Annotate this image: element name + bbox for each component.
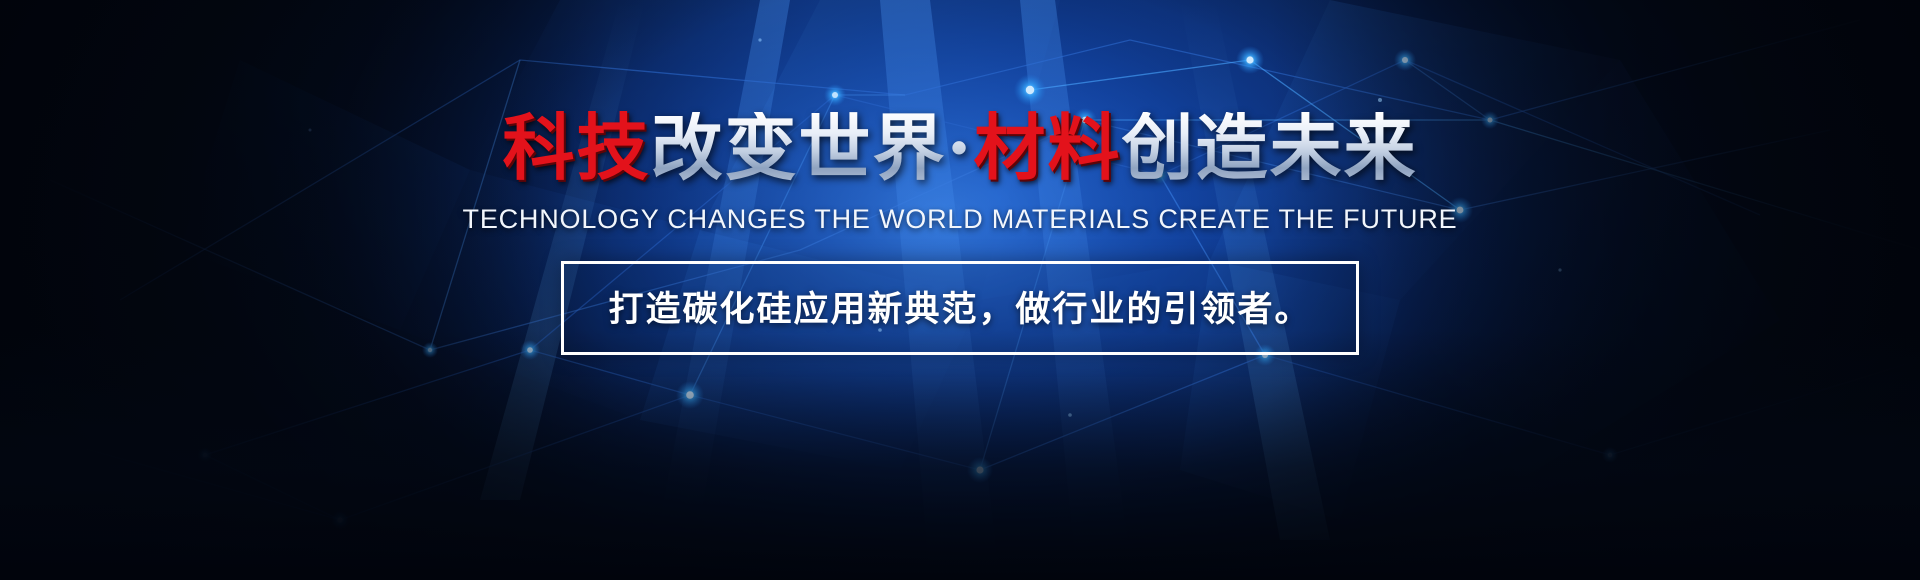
headline-segment-1: 科技 bbox=[502, 112, 650, 184]
headline-segment-2: 改变世界· bbox=[650, 112, 973, 184]
headline-segment-4: 创造未来 bbox=[1122, 112, 1418, 184]
subtitle-english: TECHNOLOGY CHANGES THE WORLD MATERIALS C… bbox=[463, 204, 1458, 235]
hero-banner: 科技 改变世界· 材料 创造未来 TECHNOLOGY CHANGES THE … bbox=[0, 0, 1920, 580]
slogan-box: 打造碳化硅应用新典范，做行业的引领者。 bbox=[561, 261, 1358, 355]
slogan-text: 打造碳化硅应用新典范，做行业的引领者。 bbox=[608, 281, 1311, 332]
headline: 科技 改变世界· 材料 创造未来 bbox=[502, 112, 1417, 184]
headline-segment-3: 材料 bbox=[974, 112, 1122, 184]
banner-content: 科技 改变世界· 材料 创造未来 TECHNOLOGY CHANGES THE … bbox=[0, 0, 1920, 580]
